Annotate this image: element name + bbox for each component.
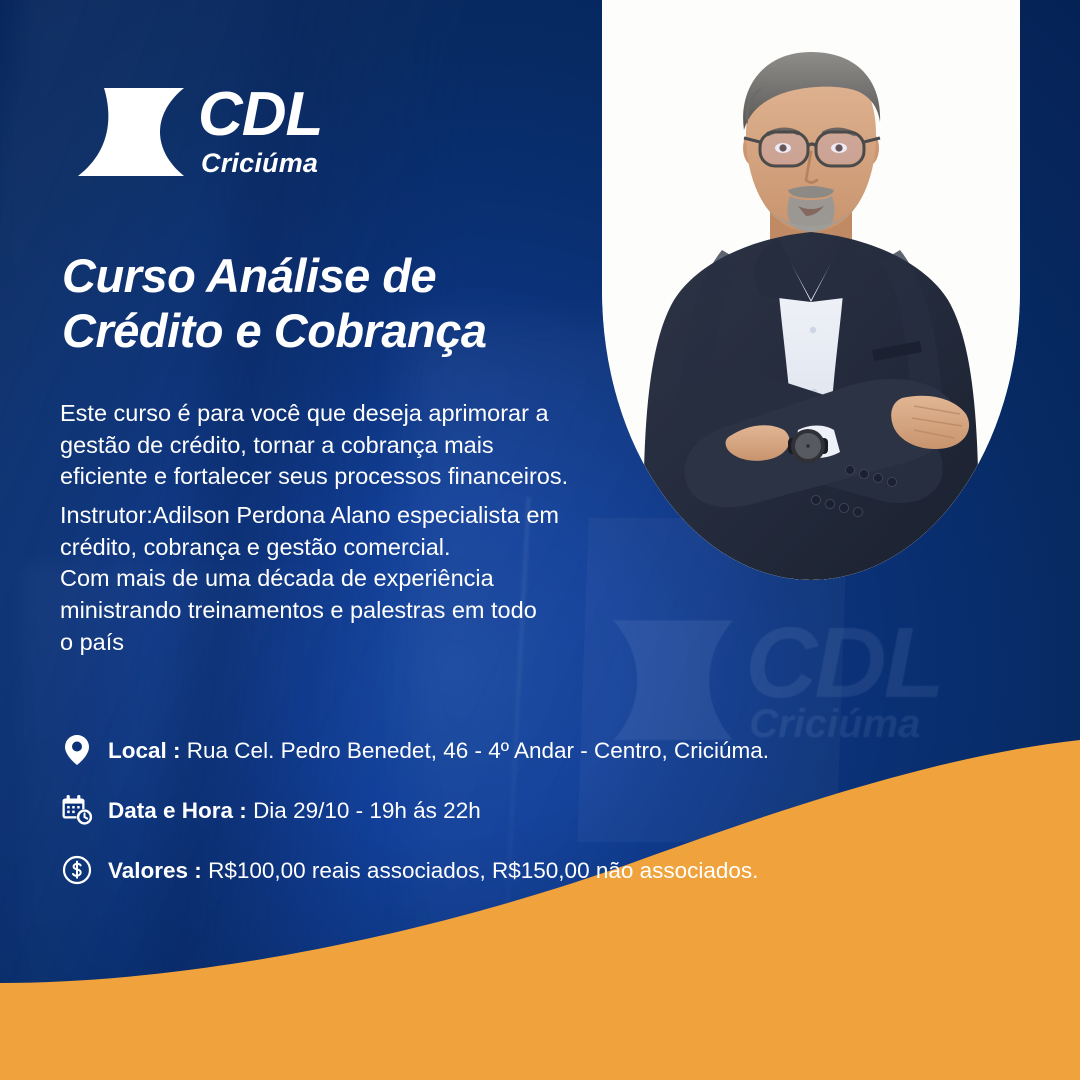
info-value-local: Rua Cel. Pedro Benedet, 46 - 4º Andar - … (187, 738, 769, 763)
cdl-flag-mark-icon (78, 88, 184, 176)
info-value-valores: R$100,00 reais associados, R$150,00 não … (208, 858, 758, 883)
page-title: Curso Análise de Crédito e Cobrança (62, 248, 582, 359)
instructor-portrait (602, 0, 1020, 580)
cdl-watermark-mark-icon (583, 620, 733, 740)
cdl-logo: CDL Criciúma (78, 84, 322, 177)
cdl-watermark-name: CDL (745, 619, 942, 707)
info-label-data-hora: Data e Hora : (108, 798, 247, 823)
info-value-data-hora: Dia 29/10 - 19h ás 22h (253, 798, 481, 823)
map-pin-icon (60, 733, 94, 767)
info-row-local: Local : Rua Cel. Pedro Benedet, 46 - 4º … (60, 733, 1020, 767)
info-row-data-hora: Data e Hora : Dia 29/10 - 19h ás 22h (60, 793, 1020, 827)
instructor-paragraph: Instrutor:Adilson Perdona Alano especial… (60, 500, 572, 659)
promo-poster: CDL Criciúma (0, 0, 1080, 1080)
event-details: Local : Rua Cel. Pedro Benedet, 46 - 4º … (60, 733, 1020, 913)
calendar-clock-icon (60, 793, 94, 827)
intro-paragraph: Este curso é para você que deseja aprimo… (60, 398, 572, 493)
info-label-valores: Valores : (108, 858, 202, 883)
info-label-local: Local : (108, 738, 181, 763)
instructor-photo-panel (602, 0, 1020, 580)
dollar-circle-icon (60, 853, 94, 887)
logo-city: Criciúma (201, 150, 322, 177)
info-row-valores: Valores : R$100,00 reais associados, R$1… (60, 853, 1020, 887)
logo-name: CDL (198, 84, 322, 146)
